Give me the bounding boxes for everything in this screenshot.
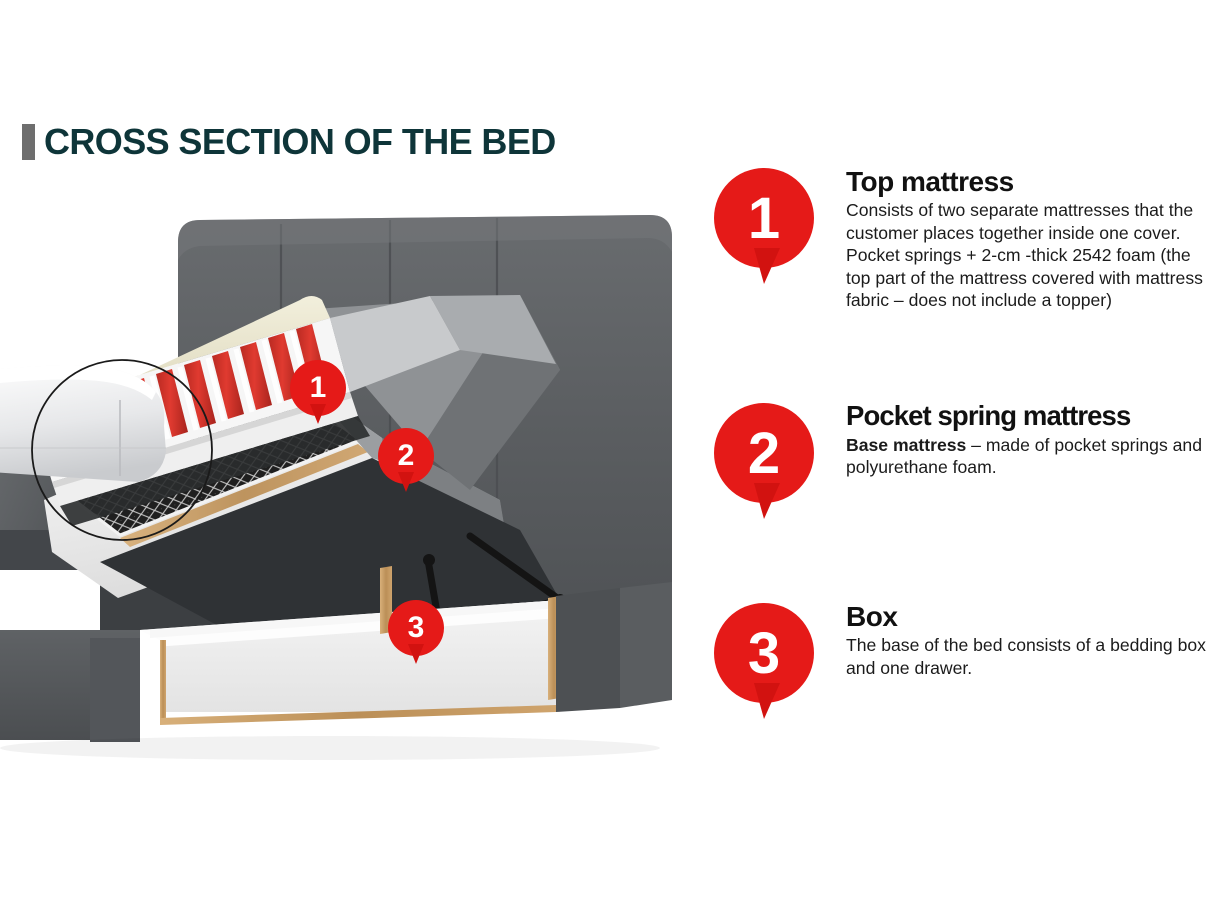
page-title-text: CROSS SECTION OF THE BED bbox=[44, 124, 556, 160]
legend-badge-3: 3 bbox=[714, 603, 814, 723]
legend-text-1: Top mattress Consists of two separate ma… bbox=[846, 166, 1214, 312]
illustration-marker-1[interactable]: 1 bbox=[290, 360, 346, 428]
legend-badge-2: 2 bbox=[714, 403, 814, 523]
legend-badge-1: 1 bbox=[714, 168, 814, 288]
legend-title-3: Box bbox=[846, 601, 1214, 632]
illustration-marker-3[interactable]: 3 bbox=[388, 600, 444, 668]
illustration-marker-2[interactable]: 2 bbox=[378, 428, 434, 496]
legend-body-3: The base of the bed consists of a beddin… bbox=[846, 634, 1214, 679]
illustration-marker-3-number: 3 bbox=[388, 600, 444, 656]
legend-body-1: Consists of two separate mattresses that… bbox=[846, 199, 1214, 312]
illustration-marker-1-number: 1 bbox=[290, 360, 346, 416]
legend-badge-1-number: 1 bbox=[714, 168, 814, 268]
bed-cross-section-illustration: 1 2 3 bbox=[0, 200, 700, 760]
legend-body-2-lead: Base mattress bbox=[846, 435, 966, 455]
legend-text-3: Box The base of the bed consists of a be… bbox=[846, 601, 1214, 679]
title-bullet-icon bbox=[22, 124, 35, 160]
legend-badge-2-number: 2 bbox=[714, 403, 814, 503]
mattress-corner-detail bbox=[0, 366, 166, 483]
legend-title-2: Pocket spring mattress bbox=[846, 401, 1214, 432]
legend-body-2: Base mattress – made of pocket springs a… bbox=[846, 434, 1214, 479]
legend-text-2: Pocket spring mattress Base mattress – m… bbox=[846, 401, 1214, 479]
legend-title-1: Top mattress bbox=[846, 166, 1214, 197]
page-title: CROSS SECTION OF THE BED bbox=[22, 124, 556, 160]
legend-badge-3-number: 3 bbox=[714, 603, 814, 703]
illustration-marker-2-number: 2 bbox=[378, 428, 434, 484]
infographic-page: CROSS SECTION OF THE BED bbox=[0, 0, 1214, 910]
